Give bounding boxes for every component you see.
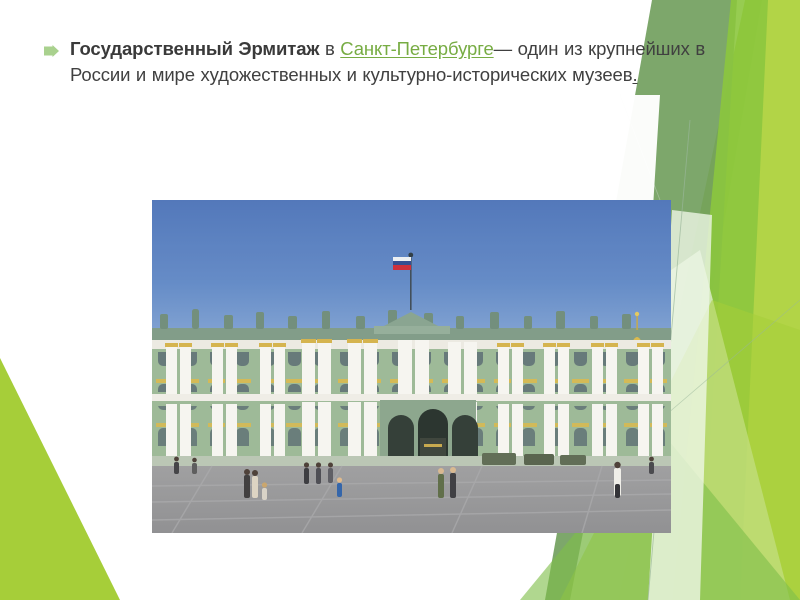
decor-hairline-3 (620, 95, 660, 200)
connector-text: в (319, 38, 340, 59)
decor-shape-mid-green (672, 0, 768, 600)
bullet-paragraph: Государственный Эрмитаж в Санкт-Петербур… (44, 36, 756, 89)
presentation-slide: Государственный Эрмитаж в Санкт-Петербур… (0, 0, 800, 600)
winter-palace-hermitage-photo (152, 200, 671, 533)
photo-haze (152, 200, 671, 533)
link-saint-petersburg[interactable]: Санкт-Петербурге (340, 38, 493, 59)
reference-dot-link[interactable]: . (632, 64, 637, 85)
lead-bold-text: Государственный Эрмитаж (70, 38, 319, 59)
bullet-text-body: Государственный Эрмитаж в Санкт-Петербур… (70, 36, 756, 89)
decor-shape-left-triangle (0, 358, 120, 600)
decor-hairline-2 (660, 300, 800, 420)
green-arrow-bullet-icon (44, 36, 70, 57)
decor-shape-right-bright (660, 0, 800, 600)
